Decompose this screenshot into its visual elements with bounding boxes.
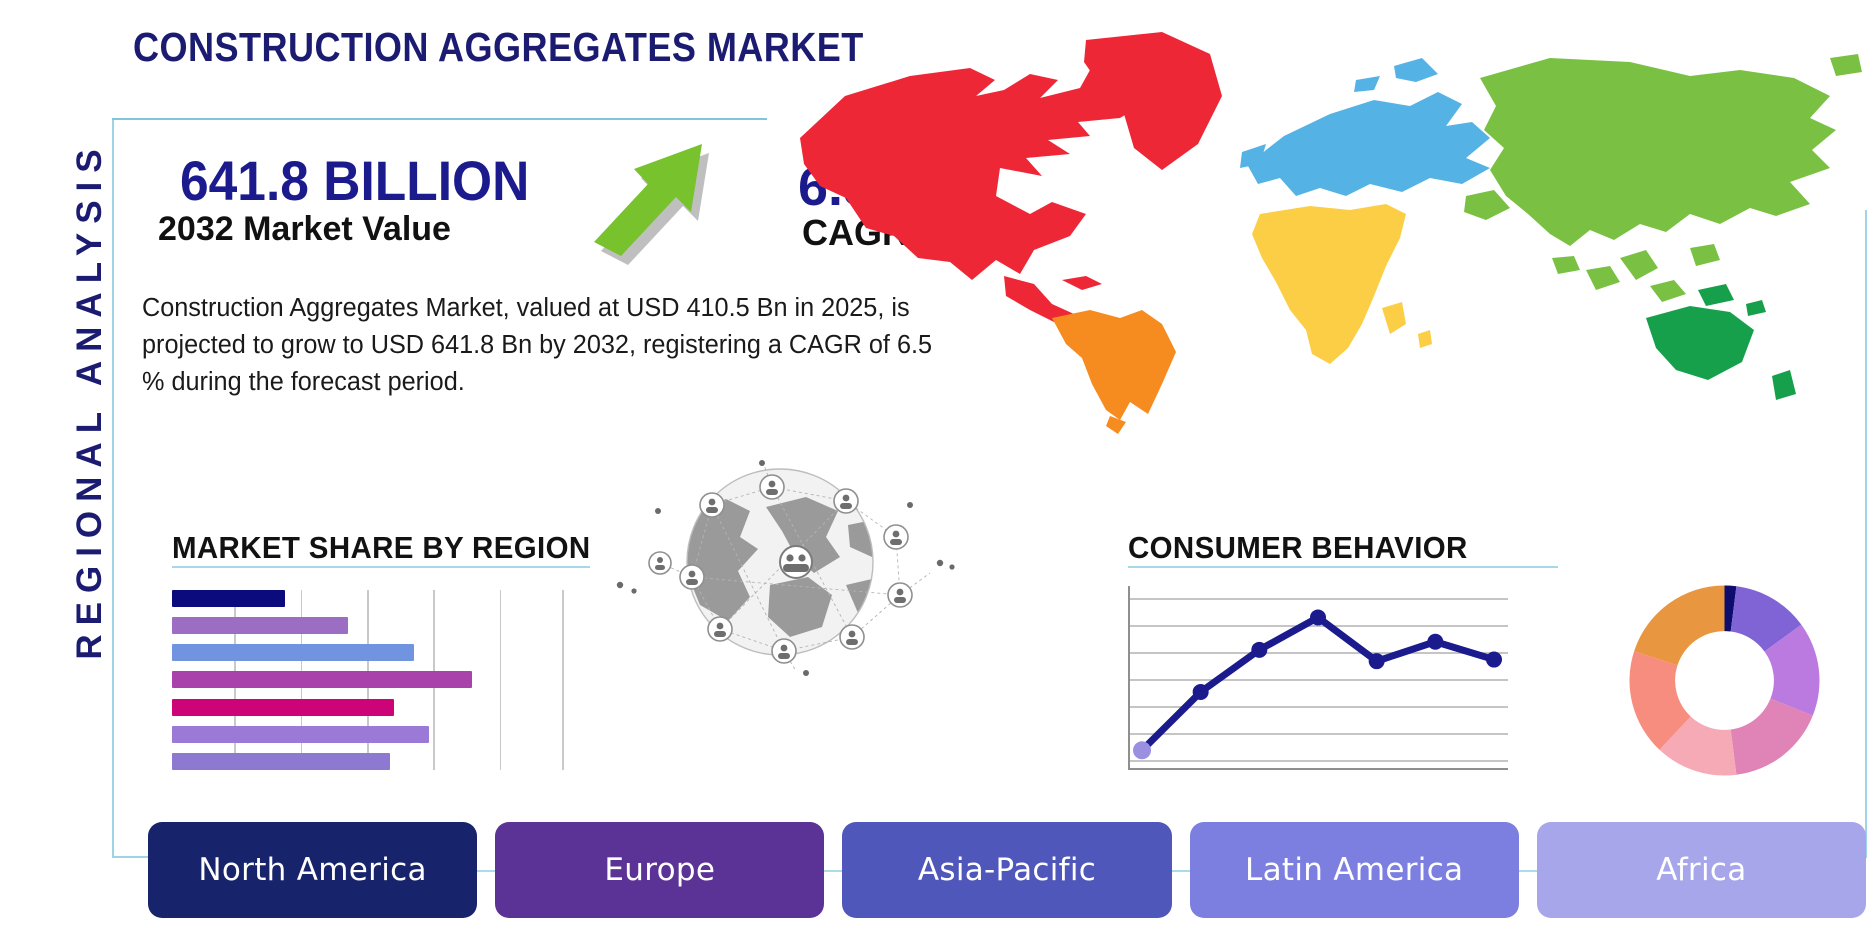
region-button-row: North AmericaEuropeAsia-PacificLatin Ame… bbox=[148, 822, 1866, 918]
frame-top-rule bbox=[112, 118, 767, 120]
bar-chart-bar bbox=[172, 590, 285, 607]
frame-right-rule bbox=[1865, 210, 1867, 858]
region-button-latin-america[interactable]: Latin America bbox=[1190, 822, 1519, 918]
growth-arrow-up-icon bbox=[590, 138, 780, 273]
global-network-people-icon bbox=[600, 445, 960, 680]
bar-chart-gridline bbox=[562, 590, 564, 770]
bar-chart-bar bbox=[172, 644, 414, 661]
consumer-behavior-heading: CONSUMER BEHAVIOR bbox=[1128, 530, 1468, 566]
region-button-europe[interactable]: Europe bbox=[495, 822, 824, 918]
segment-donut-chart bbox=[1622, 578, 1827, 783]
bar-chart-bar bbox=[172, 726, 429, 743]
line-chart-point bbox=[1486, 652, 1502, 668]
bar-chart-bars bbox=[172, 590, 562, 770]
bar-chart-bar bbox=[172, 699, 394, 716]
world-map-icon bbox=[790, 18, 1865, 438]
bar-chart-bar bbox=[172, 753, 390, 770]
bar-chart-bar bbox=[172, 617, 348, 634]
market-share-heading-rule bbox=[172, 566, 590, 568]
page-title: CONSTRUCTION AGGREGATES MARKET bbox=[133, 24, 864, 71]
line-chart-series bbox=[1128, 586, 1508, 770]
consumer-behavior-heading-rule bbox=[1128, 566, 1558, 568]
market-value-caption: 2032 Market Value bbox=[158, 210, 451, 249]
line-chart-point bbox=[1133, 741, 1151, 759]
line-chart-point bbox=[1251, 642, 1267, 658]
consumer-behavior-line-chart bbox=[1128, 586, 1508, 770]
frame-left-rule bbox=[112, 118, 114, 858]
market-value-number: 641.8 BILLION bbox=[180, 148, 529, 213]
line-chart-point bbox=[1369, 653, 1385, 669]
infographic-canvas: CONSTRUCTION AGGREGATES MARKET REGIONAL … bbox=[0, 0, 1875, 938]
line-chart-point bbox=[1193, 684, 1209, 700]
market-share-heading: MARKET SHARE BY REGION bbox=[172, 530, 591, 566]
bar-chart-bar bbox=[172, 671, 472, 688]
region-button-north-america[interactable]: North America bbox=[148, 822, 477, 918]
side-label-regional-analysis: REGIONAL ANALYSIS bbox=[70, 100, 110, 700]
region-button-asia-pacific[interactable]: Asia-Pacific bbox=[842, 822, 1171, 918]
donut-segment bbox=[1634, 586, 1724, 666]
line-chart-point bbox=[1427, 634, 1443, 650]
market-share-bar-chart bbox=[172, 590, 562, 770]
line-chart-point bbox=[1310, 609, 1326, 625]
region-button-africa[interactable]: Africa bbox=[1537, 822, 1866, 918]
